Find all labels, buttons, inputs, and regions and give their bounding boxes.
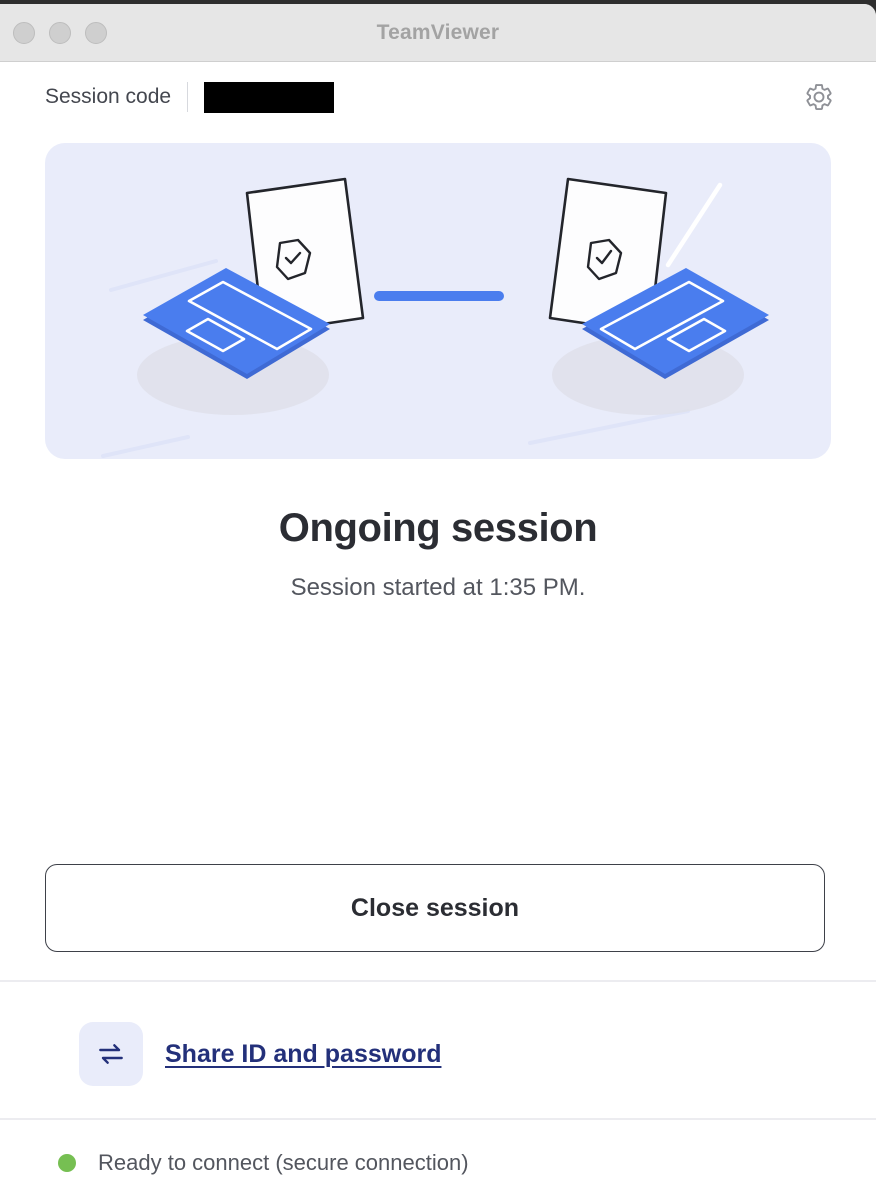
share-id-and-password-link[interactable]: Share ID and password — [165, 1040, 441, 1069]
divider-above-share — [0, 980, 876, 982]
window-title: TeamViewer — [0, 21, 876, 45]
desktop-background: TeamViewer Session code .lc-screen { fil… — [0, 0, 876, 1202]
minimize-button[interactable] — [49, 22, 71, 44]
decor-streak-right — [668, 185, 720, 265]
window-titlebar: TeamViewer — [0, 4, 876, 62]
page-title: Ongoing session — [0, 506, 876, 551]
zoom-button[interactable] — [85, 22, 107, 44]
vertical-divider — [187, 82, 188, 112]
divider-above-status — [0, 1118, 876, 1120]
session-code-value-redacted[interactable] — [204, 82, 334, 113]
decor-line-left — [103, 437, 188, 456]
teamviewer-window: TeamViewer Session code .lc-screen { fil… — [0, 4, 876, 1202]
connected-laptops-graphic: .lc-screen { fill:#fdfdfe; stroke:#23252… — [45, 143, 831, 459]
session-illustration: .lc-screen { fill:#fdfdfe; stroke:#23252… — [45, 143, 831, 459]
laptop-left — [111, 179, 363, 415]
decor-line-bottom-right — [530, 411, 688, 443]
session-code-row: Session code — [0, 62, 876, 132]
status-bar: Ready to connect (secure connection) — [58, 1150, 469, 1176]
session-start-time: Session started at 1:35 PM. — [0, 574, 876, 602]
connection-bar — [374, 291, 504, 301]
status-indicator-dot — [58, 1154, 76, 1172]
transfer-arrows-icon — [95, 1038, 127, 1070]
close-session-button[interactable]: Close session — [45, 864, 825, 952]
settings-button[interactable] — [804, 82, 834, 112]
session-code-label: Session code — [45, 85, 171, 109]
window-controls — [13, 22, 107, 44]
gear-icon — [804, 82, 834, 112]
status-message: Ready to connect (secure connection) — [98, 1150, 469, 1176]
share-id-and-password-row[interactable]: Share ID and password — [79, 1022, 441, 1086]
share-icon-container — [79, 1022, 143, 1086]
laptop-right — [530, 179, 769, 443]
close-button[interactable] — [13, 22, 35, 44]
